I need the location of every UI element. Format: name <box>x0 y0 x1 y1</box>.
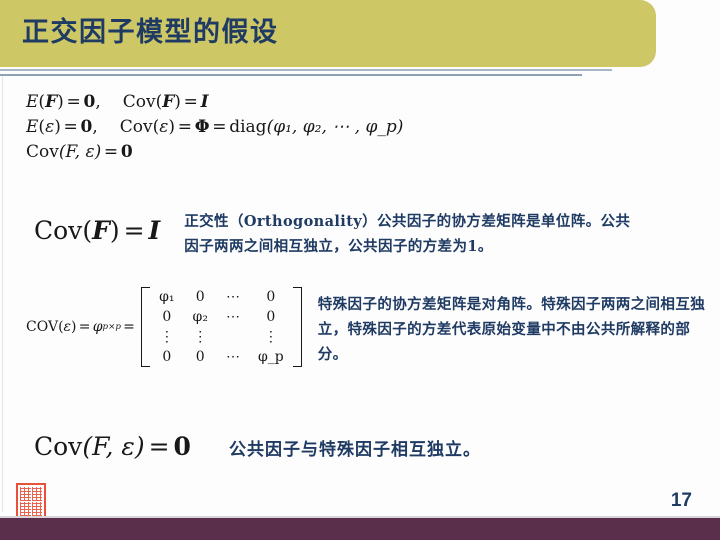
eq2-rhs-value: Φ <box>195 117 210 137</box>
matrix-cell: ⋮ <box>249 327 293 347</box>
eq2-diag-function: diag <box>229 117 266 137</box>
matrix-cell: ⋮ <box>184 327 217 347</box>
eq1-lhs-function: E <box>26 92 38 112</box>
diagonal-block: COV(ε)=φp×p= φ₁ 0 ⋯ 0 0 φ₂ <box>26 287 716 368</box>
covdiag-function: COV <box>26 319 58 335</box>
independence-equation: Cov(F, ε)=0 <box>34 432 191 461</box>
orthogonality-block: Cov(F)=I 正交性（Orthogonality）公共因子的协方差矩阵是单位… <box>34 210 636 260</box>
eq1-rhs-function: Cov <box>123 92 156 112</box>
matrix-cell: ⋯ <box>217 307 249 327</box>
eq2-lhs-function: E <box>26 117 38 137</box>
seal-glyph-grid <box>20 487 42 516</box>
covfe-equals: = <box>145 432 174 461</box>
divider-line-bottom <box>0 74 582 76</box>
slide-canvas: 正交因子模型的假设 E(F)=0,Cov(F)=I E(ε)=0,Cov(ε)=… <box>0 0 720 540</box>
seal-cell <box>20 487 31 501</box>
page-title: 正交因子模型的假设 <box>22 10 279 49</box>
matrix-cell: φ₁ <box>150 287 183 307</box>
eq1-rhs-value: I <box>201 92 209 112</box>
eq2-comma: , <box>92 117 97 137</box>
eq2-lhs-equals: = <box>61 117 81 137</box>
matrix-row: 0 0 ⋯ φ_p <box>150 347 293 367</box>
eq2-rhs-equals-2: = <box>210 117 230 137</box>
diagonal-note: 特殊因子的协方差矩阵是对角阵。特殊因子两两之间相互独立，特殊因子的方差代表原始变… <box>318 287 716 368</box>
assumption-line-3: Cov(F, ε)=0 <box>26 140 403 164</box>
left-margin-rule <box>2 76 3 512</box>
matrix-cell <box>217 327 249 347</box>
divider-line-top <box>0 69 612 71</box>
red-seal-icon <box>16 483 46 520</box>
independence-block: Cov(F, ε)=0 公共因子与特殊因子相互独立。 <box>34 432 481 465</box>
eq1-rhs-arg: F <box>162 92 174 112</box>
matrix-row: ⋮ ⋮ ⋮ <box>150 327 293 347</box>
matrix-cell: 0 <box>184 287 217 307</box>
eq1-rhs-equals: = <box>181 92 201 112</box>
eq2-lhs-value: 0 <box>81 117 93 137</box>
covfe-function: Cov <box>34 432 82 461</box>
matrix-cell: 0 <box>184 347 217 367</box>
eq1-lhs-equals: = <box>64 92 84 112</box>
orthogonality-note: 正交性（Orthogonality）公共因子的协方差矩阵是单位阵。公共因子两两之… <box>184 210 636 260</box>
page-number: 17 <box>671 490 692 512</box>
assumption-line-2: E(ε)=0,Cov(ε)=Φ=diag(φ₁, φ₂, ⋯ , φ_p) <box>26 115 403 139</box>
independence-note: 公共因子与特殊因子相互独立。 <box>229 436 481 465</box>
eq2-rhs-equals: = <box>175 117 195 137</box>
covfe-args: (F, ε) <box>82 432 144 461</box>
matrix-cell: ⋯ <box>217 347 249 367</box>
covf-function: Cov <box>34 216 82 245</box>
matrix-cell: 0 <box>150 307 183 327</box>
matrix-cell: 0 <box>249 287 293 307</box>
covfe-value: 0 <box>174 432 191 461</box>
matrix-cell: ⋮ <box>150 327 183 347</box>
eq3-function: Cov <box>26 142 59 162</box>
eq3-args: (F, ε) <box>59 142 101 162</box>
matrix-cell: φ₂ <box>184 307 217 327</box>
seal-cell <box>32 502 43 516</box>
matrix-bracket-right <box>293 287 302 367</box>
matrix-bracket-left <box>141 287 150 367</box>
covdiag-symbol: φ <box>93 319 103 335</box>
footer-bar <box>0 518 720 540</box>
covdiag-arg: ε <box>64 319 72 335</box>
seal-cell <box>32 487 43 501</box>
eq1-lhs-arg: F <box>45 92 57 112</box>
covf-equals: = <box>120 216 149 245</box>
matrix-row: φ₁ 0 ⋯ 0 <box>150 287 293 307</box>
eq3-equals: = <box>101 142 121 162</box>
seal-cell <box>20 502 31 516</box>
covf-value: I <box>149 216 161 245</box>
covdiag-subscript: p×p <box>103 322 121 332</box>
orthogonality-equation: Cov(F)=I <box>34 210 160 245</box>
eq2-diag-args: (φ₁, φ₂, ⋯ , φ_p) <box>267 117 404 137</box>
eq2-lhs-arg: ε <box>45 117 54 137</box>
matrix-table: φ₁ 0 ⋯ 0 0 φ₂ ⋯ 0 ⋮ ⋮ <box>150 287 293 367</box>
matrix-cell: ⋯ <box>217 287 249 307</box>
covf-arg: F <box>92 216 110 245</box>
matrix-cell: φ_p <box>249 347 293 367</box>
diagonal-equation: COV(ε)=φp×p= φ₁ 0 ⋯ 0 0 φ₂ <box>26 287 302 367</box>
matrix-row: 0 φ₂ ⋯ 0 <box>150 307 293 327</box>
assumptions-equation-block: E(F)=0,Cov(F)=I E(ε)=0,Cov(ε)=Φ=diag(φ₁,… <box>26 90 403 165</box>
covdiag-equals-1: = <box>77 319 93 335</box>
eq3-value: 0 <box>121 142 133 162</box>
diagonal-matrix: φ₁ 0 ⋯ 0 0 φ₂ ⋯ 0 ⋮ ⋮ <box>141 287 302 367</box>
eq1-comma: , <box>95 92 100 112</box>
assumption-line-1: E(F)=0,Cov(F)=I <box>26 90 403 114</box>
matrix-cell: 0 <box>249 307 293 327</box>
covdiag-equals-2: = <box>121 319 137 335</box>
eq1-lhs-value: 0 <box>83 92 95 112</box>
eq2-rhs-function: Cov <box>120 117 153 137</box>
matrix-cell: 0 <box>150 347 183 367</box>
